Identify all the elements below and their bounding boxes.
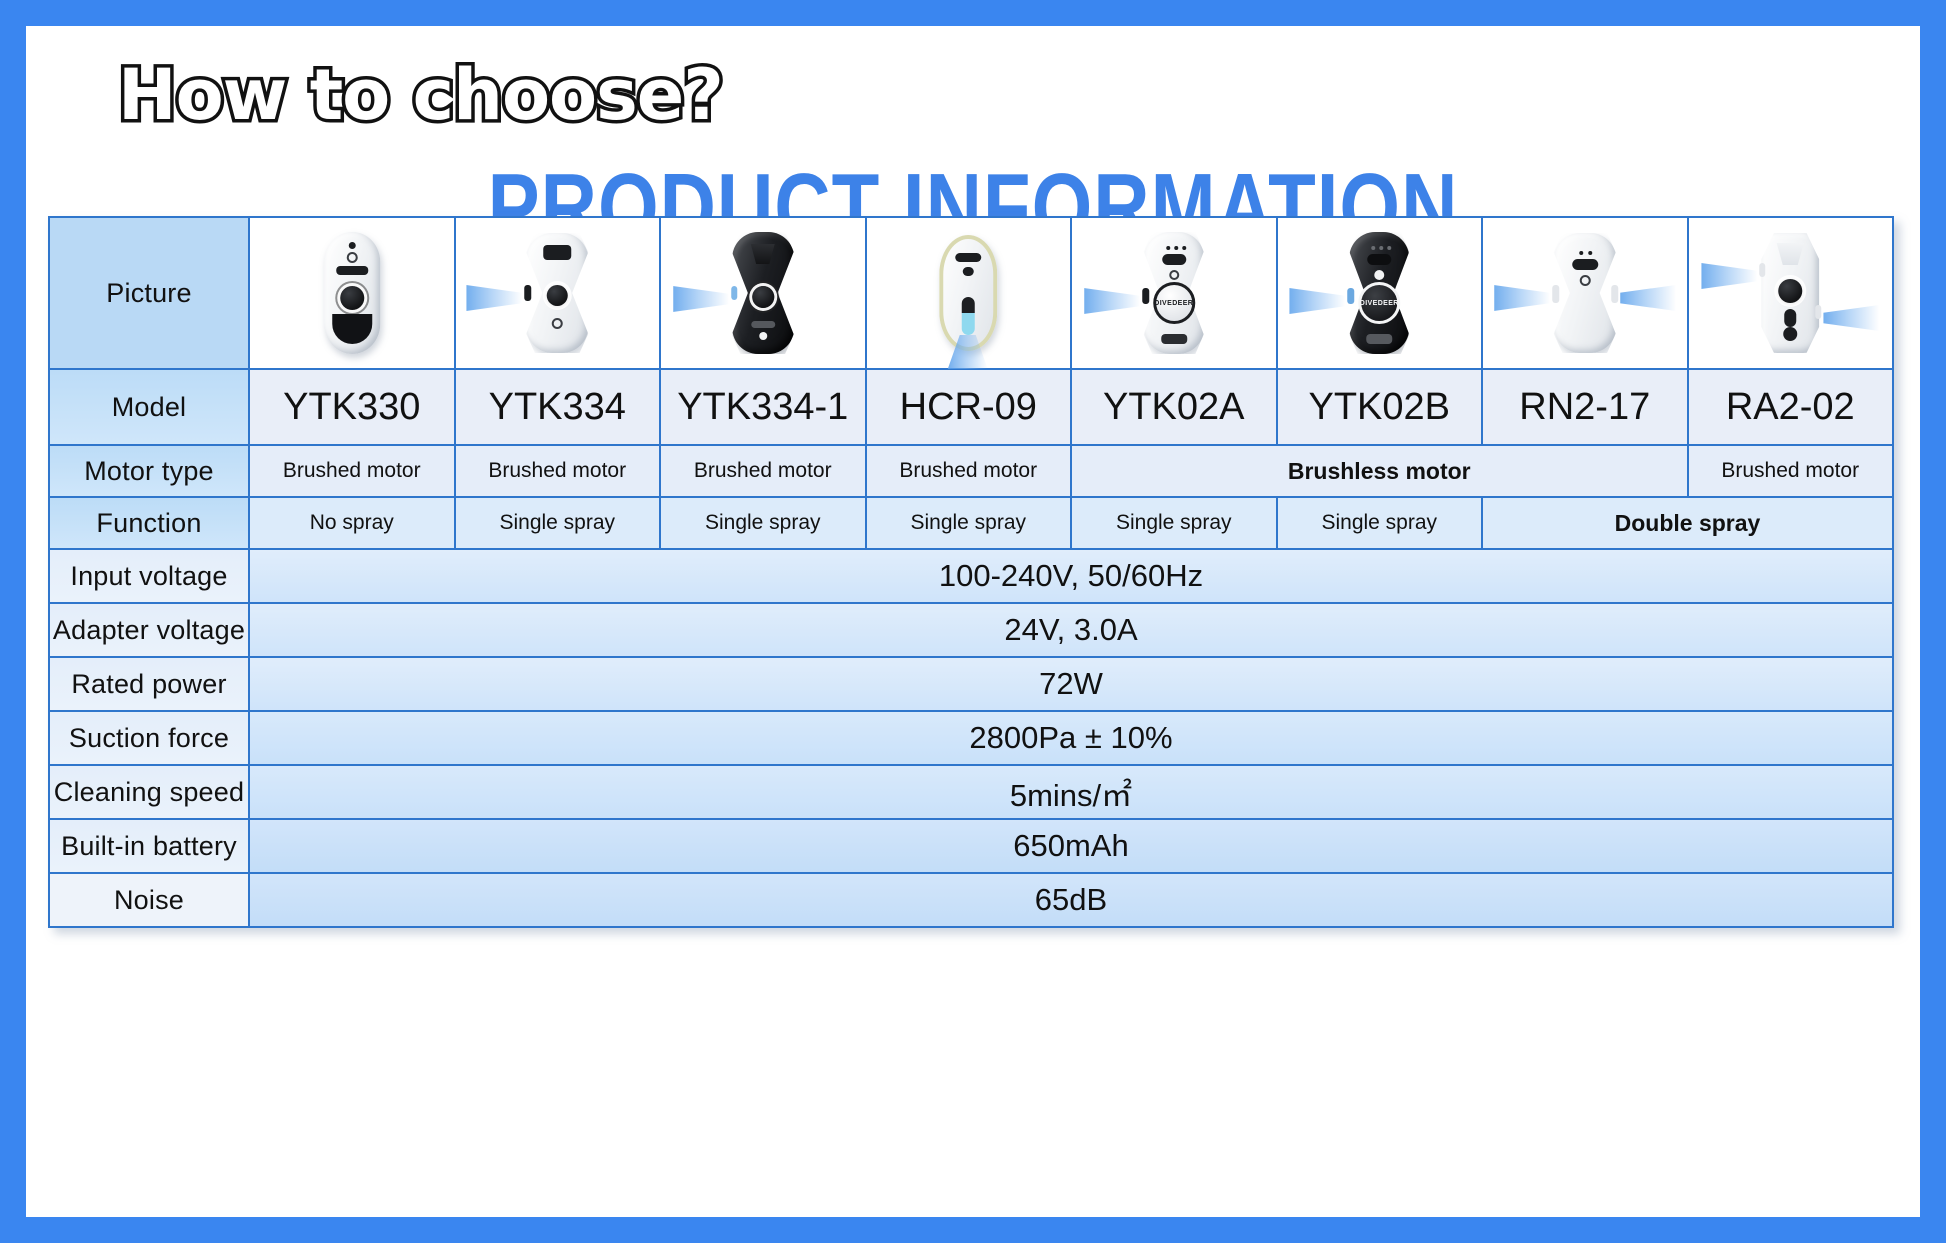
table-row-adapter-voltage: Adapter voltage 24V, 3.0A bbox=[49, 603, 1893, 657]
row-label-motor-type: Motor type bbox=[49, 445, 249, 497]
table-row-picture: Picture bbox=[49, 217, 1893, 369]
product-comparison-table-wrapper: Picture bbox=[48, 216, 1894, 928]
robot-peanut-black-icon bbox=[661, 218, 865, 368]
motor-type-cell: Brushed motor bbox=[249, 445, 455, 497]
product-image-cell-ytk330 bbox=[249, 217, 455, 369]
row-label-adapter-voltage: Adapter voltage bbox=[49, 603, 249, 657]
product-image-cell-ytk02a: DIVEDEER bbox=[1071, 217, 1277, 369]
model-cell: YTK330 bbox=[249, 369, 455, 445]
robot-peanut-dual-spray-icon bbox=[1483, 218, 1687, 368]
robot-capsule-white-icon bbox=[250, 218, 454, 368]
model-cell: RA2-02 bbox=[1688, 369, 1894, 445]
table-row-noise: Noise 65dB bbox=[49, 873, 1893, 927]
row-label-picture: Picture bbox=[49, 217, 249, 369]
product-image-cell-ytk02b: DIVEDEER bbox=[1277, 217, 1483, 369]
robot-peanut-white-ring-icon: DIVEDEER bbox=[1072, 218, 1276, 368]
row-label-cleaning-speed: Cleaning speed bbox=[49, 765, 249, 819]
robot-angular-dual-spray-icon bbox=[1689, 218, 1893, 368]
motor-type-cell: Brushed motor bbox=[1688, 445, 1894, 497]
row-label-input-voltage: Input voltage bbox=[49, 549, 249, 603]
model-cell: YTK02B bbox=[1277, 369, 1483, 445]
function-cell: Single spray bbox=[1277, 497, 1483, 549]
spec-value-rated-power: 72W bbox=[249, 657, 1893, 711]
row-label-suction-force: Suction force bbox=[49, 711, 249, 765]
table-row-suction-force: Suction force 2800Pa ± 10% bbox=[49, 711, 1893, 765]
brand-label: DIVEDEER bbox=[1154, 300, 1193, 307]
function-cell: Single spray bbox=[1071, 497, 1277, 549]
function-cell-merged: Double spray bbox=[1482, 497, 1893, 549]
brand-label: DIVEDEER bbox=[1360, 300, 1399, 307]
product-image-cell-ra2-02 bbox=[1688, 217, 1894, 369]
spec-value-built-in-battery: 650mAh bbox=[249, 819, 1893, 873]
product-image-cell-rn2-17 bbox=[1482, 217, 1688, 369]
row-label-built-in-battery: Built-in battery bbox=[49, 819, 249, 873]
table-row-rated-power: Rated power 72W bbox=[49, 657, 1893, 711]
function-cell: Single spray bbox=[660, 497, 866, 549]
model-cell: HCR-09 bbox=[866, 369, 1072, 445]
row-label-model: Model bbox=[49, 369, 249, 445]
motor-type-cell: Brushed motor bbox=[866, 445, 1072, 497]
robot-peanut-white-icon bbox=[456, 218, 660, 368]
motor-type-cell: Brushed motor bbox=[660, 445, 866, 497]
product-comparison-table: Picture bbox=[48, 216, 1894, 928]
table-row-model: Model YTK330 YTK334 YTK334-1 HCR-09 YTK0… bbox=[49, 369, 1893, 445]
model-cell: YTK334-1 bbox=[660, 369, 866, 445]
spec-value-adapter-voltage: 24V, 3.0A bbox=[249, 603, 1893, 657]
model-cell: RN2-17 bbox=[1482, 369, 1688, 445]
function-cell: Single spray bbox=[455, 497, 661, 549]
product-image-cell-ytk334-1 bbox=[660, 217, 866, 369]
table-row-input-voltage: Input voltage 100-240V, 50/60Hz bbox=[49, 549, 1893, 603]
spec-value-suction-force: 2800Pa ± 10% bbox=[249, 711, 1893, 765]
table-row-function: Function No spray Single spray Single sp… bbox=[49, 497, 1893, 549]
row-label-rated-power: Rated power bbox=[49, 657, 249, 711]
function-cell: Single spray bbox=[866, 497, 1072, 549]
product-image-cell-ytk334 bbox=[455, 217, 661, 369]
table-row-built-in-battery: Built-in battery 650mAh bbox=[49, 819, 1893, 873]
page-frame: How to choose? PRODUCT INFORMATION Pictu… bbox=[26, 26, 1920, 1217]
spec-value-cleaning-speed: 5mins/㎡ bbox=[249, 765, 1893, 819]
table-row-cleaning-speed: Cleaning speed 5mins/㎡ bbox=[49, 765, 1893, 819]
motor-type-cell-merged: Brushless motor bbox=[1071, 445, 1688, 497]
spec-value-input-voltage: 100-240V, 50/60Hz bbox=[249, 549, 1893, 603]
row-label-function: Function bbox=[49, 497, 249, 549]
model-cell: YTK02A bbox=[1071, 369, 1277, 445]
row-label-noise: Noise bbox=[49, 873, 249, 927]
robot-oval-white-pad-icon bbox=[867, 218, 1071, 368]
motor-type-cell: Brushed motor bbox=[455, 445, 661, 497]
robot-peanut-black-ring-icon: DIVEDEER bbox=[1278, 218, 1482, 368]
model-cell: YTK334 bbox=[455, 369, 661, 445]
product-image-cell-hcr-09 bbox=[866, 217, 1072, 369]
spec-value-noise: 65dB bbox=[249, 873, 1893, 927]
table-row-motor-type: Motor type Brushed motor Brushed motor B… bbox=[49, 445, 1893, 497]
function-cell: No spray bbox=[249, 497, 455, 549]
kicker-heading: How to choose? bbox=[118, 54, 723, 136]
